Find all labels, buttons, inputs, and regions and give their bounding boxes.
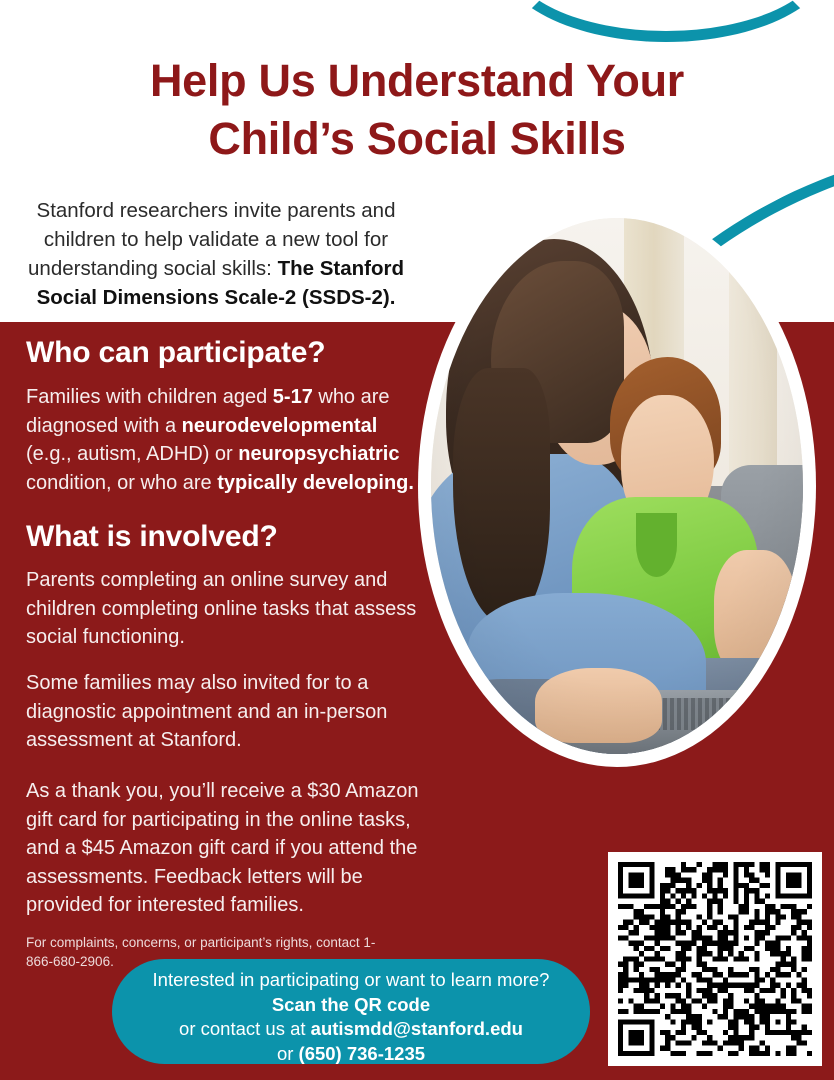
contact-line-4-phone: or (650) 736-1235: [112, 1042, 590, 1067]
contact-email-prefix: or contact us at: [179, 1018, 311, 1039]
who-text-1: Families with children aged: [26, 386, 273, 408]
flyer-root: Help Us Understand Your Child’s Social S…: [0, 0, 834, 1080]
section-heading-who: Who can participate?: [26, 335, 416, 371]
section-body-who: Families with children aged 5-17 who are…: [26, 383, 426, 497]
contact-phone-prefix: or: [277, 1043, 299, 1064]
intro-paragraph: Stanford researchers invite parents and …: [14, 196, 418, 312]
contact-line-3-email: or contact us at autismdd@stanford.edu: [112, 1017, 590, 1042]
who-bold-neurodevelopmental: neurodevelopmental: [182, 415, 378, 437]
page-title-line-2: Child’s Social Skills: [0, 110, 834, 168]
family-photo: [431, 218, 803, 754]
section-body-what-2: Some families may also invited for to a …: [26, 669, 418, 755]
page-title-line-1: Help Us Understand Your: [0, 52, 834, 110]
family-photo-frame: [418, 205, 816, 767]
who-text-3: (e.g., autism, ADHD) or: [26, 443, 238, 465]
page-title: Help Us Understand Your Child’s Social S…: [0, 52, 834, 168]
contact-phone-number[interactable]: (650) 736-1235: [299, 1043, 426, 1064]
who-bold-age: 5-17: [273, 386, 313, 408]
section-heading-what: What is involved?: [26, 519, 416, 555]
qr-code-frame[interactable]: [608, 852, 822, 1066]
section-body-compensation: As a thank you, you’ll receive a $30 Ama…: [26, 777, 422, 920]
contact-line-2-scan-qr: Scan the QR code: [112, 993, 590, 1018]
qr-code-icon[interactable]: [618, 862, 812, 1056]
who-text-4: condition, or who are: [26, 472, 217, 494]
photo-vignette: [431, 218, 803, 754]
contact-email-address[interactable]: autismdd@stanford.edu: [311, 1018, 523, 1039]
contact-line-1: Interested in participating or want to l…: [112, 968, 590, 993]
who-bold-typically-developing: typically developing.: [217, 472, 414, 494]
contact-callout[interactable]: Interested in participating or want to l…: [112, 959, 590, 1064]
who-bold-neuropsychiatric: neuropsychiatric: [238, 443, 399, 465]
section-body-what-1: Parents completing an online survey and …: [26, 566, 418, 652]
decorative-arc-top-icon: [498, 0, 834, 42]
